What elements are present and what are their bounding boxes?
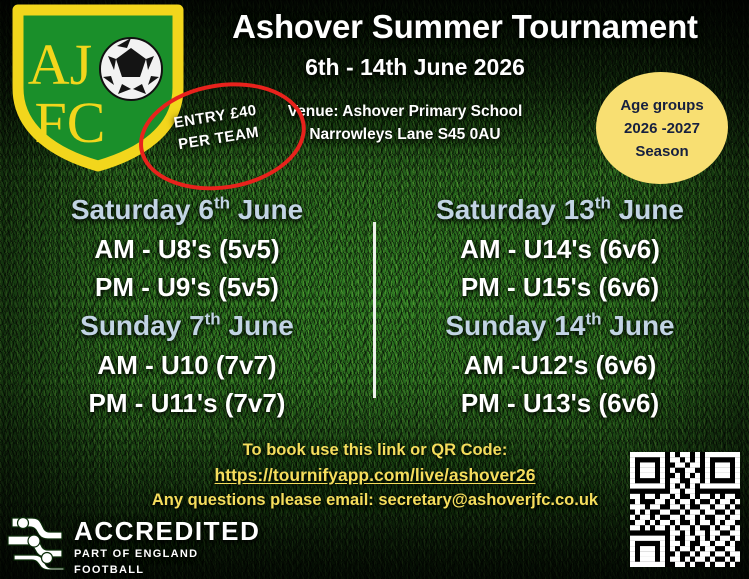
fixture-slot: PM - U13's (6v6) [385,384,735,422]
age-groups-line-2: 2026 -2027 [596,117,728,140]
age-groups-line-3: Season [596,140,728,163]
fixture-day-heading: Sunday 7th June [12,306,362,346]
fixture-slot: PM - U11's (7v7) [12,384,362,422]
booking-url-link[interactable]: https://tournifyapp.com/live/ashover26 [95,463,655,488]
age-groups-badge: Age groups 2026 -2027 Season [596,72,728,184]
booking-heading: To book use this link or QR Code: [95,438,655,463]
tournament-poster: AJ FC Ashover Summer Tournament 6th - 14… [0,0,749,579]
crest-letters-bottom: FC [35,90,106,155]
three-lions-crest-icon [6,512,68,570]
fixture-day-heading: Sunday 14th June [385,306,735,346]
crest-letters-top: AJ [28,32,92,97]
fixture-slot: AM - U14's (6v6) [385,230,735,268]
fixture-day-heading: Saturday 13th June [385,190,735,230]
fixture-slot: PM - U9's (5v5) [12,268,362,306]
fixture-slot: AM -U12's (6v6) [385,346,735,384]
accredited-badge: ACCREDITED PART OF ENGLAND FOOTBALL [6,512,246,574]
accredited-title: ACCREDITED [74,516,260,546]
accredited-text: ACCREDITED PART OF ENGLAND FOOTBALL [74,516,260,578]
qr-code-icon[interactable] [630,452,740,567]
football-icon [100,38,162,100]
page-title: Ashover Summer Tournament [185,8,745,46]
column-divider [373,222,376,398]
age-groups-line-1: Age groups [596,94,728,117]
fixture-day-heading: Saturday 6th June [12,190,362,230]
fixture-slot: AM - U10 (7v7) [12,346,362,384]
booking-block: To book use this link or QR Code: https:… [95,438,655,513]
fixtures-column-right: Saturday 13th JuneAM - U14's (6v6)PM - U… [385,190,735,422]
fixtures-column-left: Saturday 6th JuneAM - U8's (5v5)PM - U9'… [12,190,362,422]
fixture-slot: PM - U15's (6v6) [385,268,735,306]
booking-email-line: Any questions please email: secretary@as… [95,488,655,513]
fixture-slot: AM - U8's (5v5) [12,230,362,268]
age-groups-text: Age groups 2026 -2027 Season [596,94,728,163]
accredited-subtitle: PART OF ENGLAND FOOTBALL [74,546,260,578]
